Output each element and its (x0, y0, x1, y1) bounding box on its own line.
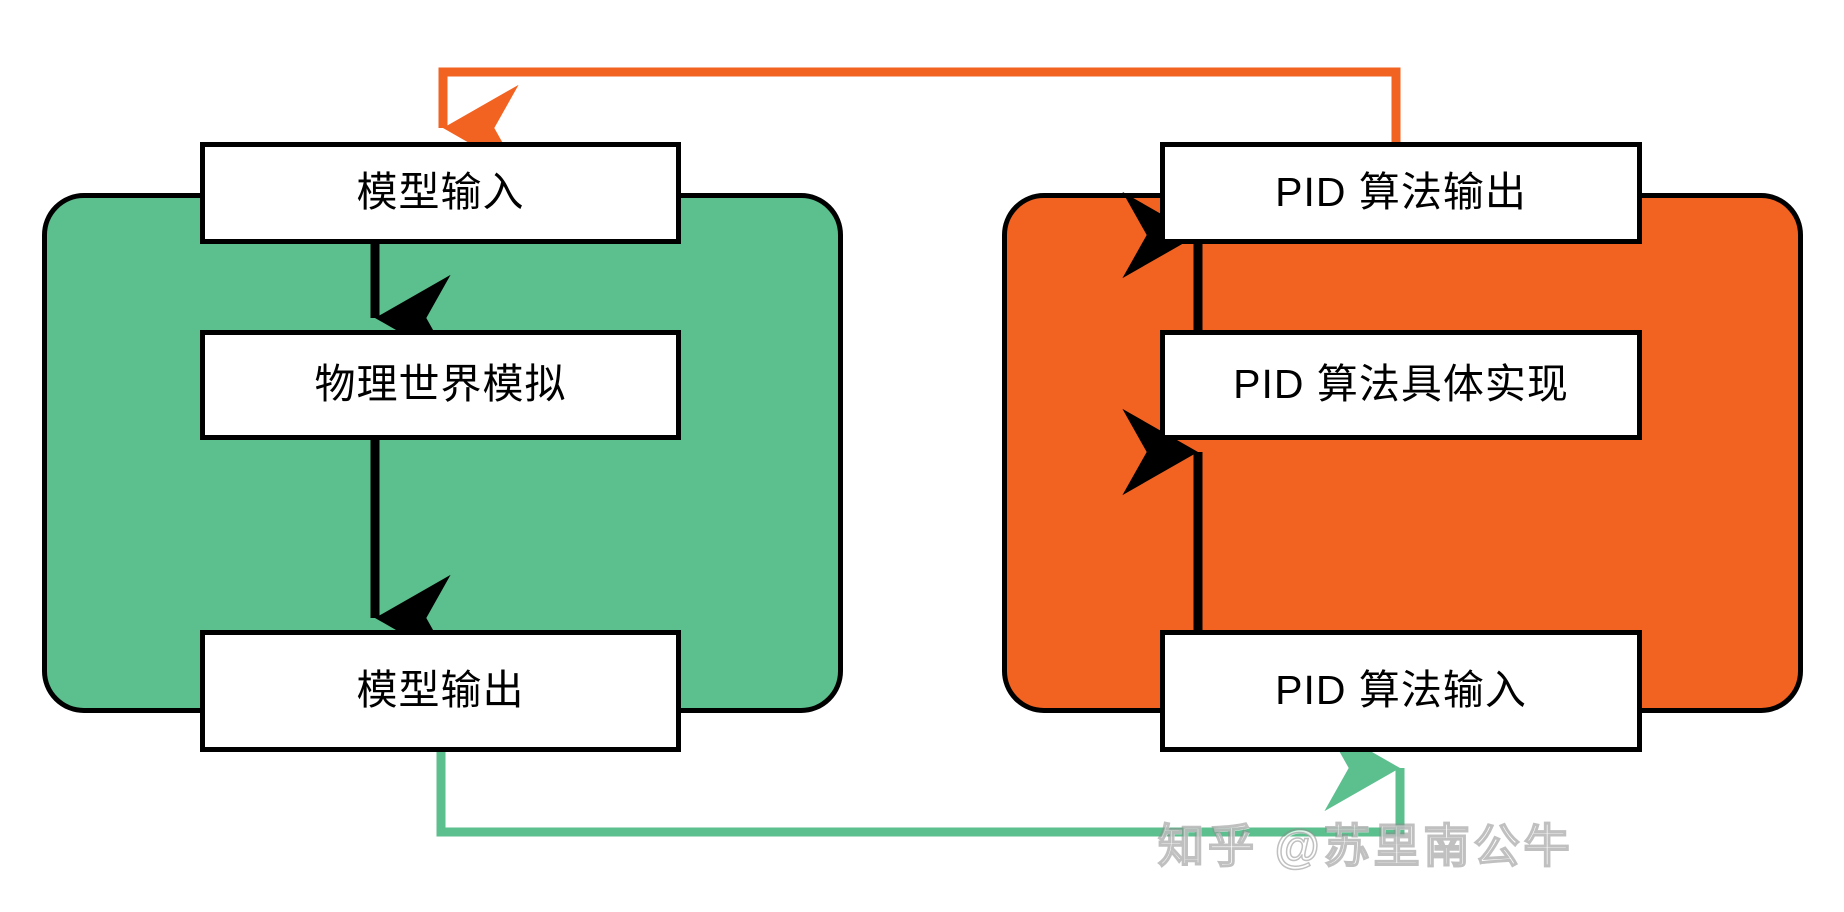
edge-pid-output-to-model-input (443, 72, 1396, 142)
watermark-text: 知乎 @苏里南公牛 (1158, 810, 1574, 876)
node-pid-input[interactable]: PID 算法输入 (1160, 630, 1642, 752)
node-physics-sim[interactable]: 物理世界模拟 (200, 330, 681, 440)
node-model-output[interactable]: 模型输出 (200, 630, 681, 752)
node-pid-output[interactable]: PID 算法输出 (1160, 142, 1642, 244)
node-pid-impl[interactable]: PID 算法具体实现 (1160, 330, 1642, 440)
diagram-canvas: 模型输入 物理世界模拟 模型输出 PID 算法输出 PID 算法具体实现 PID… (0, 0, 1844, 912)
node-model-input[interactable]: 模型输入 (200, 142, 681, 244)
